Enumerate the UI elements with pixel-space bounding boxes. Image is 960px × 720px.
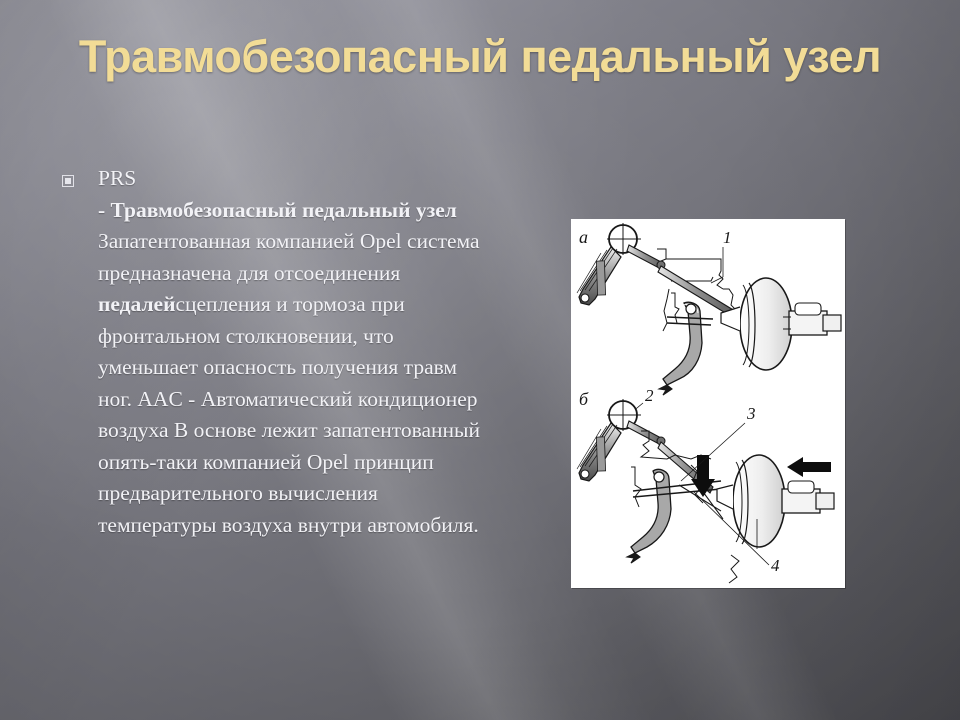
body-text-run: PRS bbox=[98, 166, 136, 190]
slide-canvas: Травмобезопасный педальный узел PRS- Тра… bbox=[0, 0, 960, 720]
body-text-run: Запатентованная компанией Opel система п… bbox=[98, 229, 480, 285]
body-text-bold: педалей bbox=[98, 292, 175, 316]
square-bullet-icon bbox=[62, 175, 74, 187]
svg-text:4: 4 bbox=[771, 556, 780, 575]
list-item: PRS- Травмобезопасный педальный узел Зап… bbox=[62, 163, 482, 541]
pedal-assembly-svg: а bbox=[571, 219, 845, 588]
svg-text:б: б bbox=[579, 389, 589, 409]
svg-text:а: а bbox=[579, 227, 588, 247]
body-text-run: сцепления и тормоза при фронтальном стол… bbox=[98, 292, 480, 537]
svg-text:2: 2 bbox=[645, 386, 654, 405]
body-text-bold: - Травмобезопасный педальный узел bbox=[98, 198, 457, 222]
pedal-assembly-diagram: а bbox=[571, 219, 845, 588]
body-paragraph: PRS- Травмобезопасный педальный узел Зап… bbox=[98, 163, 482, 541]
page-title: Травмобезопасный педальный узел bbox=[40, 32, 920, 82]
svg-text:1: 1 bbox=[723, 228, 732, 247]
svg-text:3: 3 bbox=[746, 404, 756, 423]
body-content: PRS- Травмобезопасный педальный узел Зап… bbox=[62, 163, 482, 541]
